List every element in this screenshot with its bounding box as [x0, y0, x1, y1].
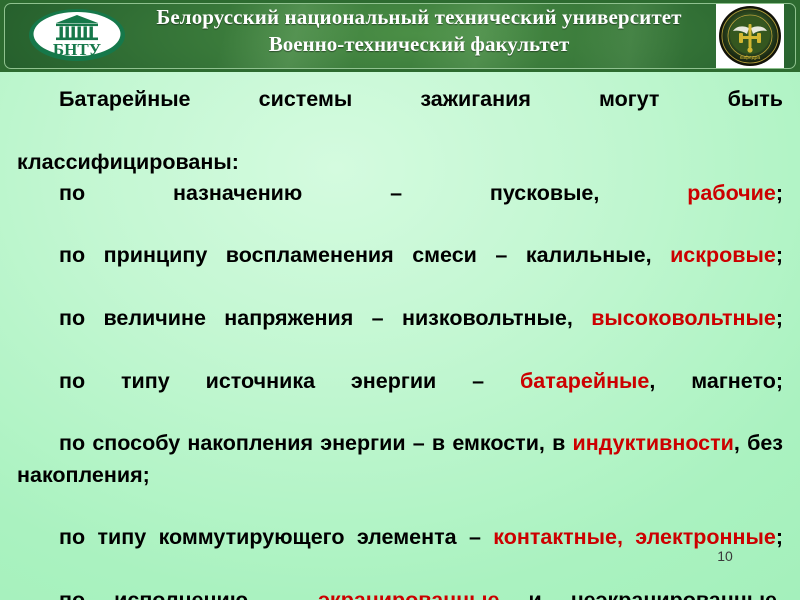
classification-item-ignition-principle-accent-1: искровые [670, 243, 776, 267]
classification-list: по назначению – пусковые, рабочие;по при… [17, 178, 783, 600]
bntu-logo: БНТУ [28, 8, 126, 62]
university-title: Белорусский национальный технический уни… [128, 4, 710, 31]
emblem-caption: кафедра [740, 55, 761, 61]
classification-item-ignition-principle-text-0: по принципу воспламенения смеси – калиль… [59, 243, 670, 267]
classification-item-ignition-principle-text-2: ; [776, 243, 783, 267]
classification-item-ignition-principle: по принципу воспламенения смеси – калиль… [17, 240, 783, 303]
classification-item-construction-accent-1: экранированные [318, 588, 499, 600]
classification-item-voltage-level-accent-1: высоковольтные [591, 306, 776, 330]
classification-item-voltage-level-text-2: ; [776, 306, 783, 330]
classification-item-switching-element-text-2: ; [776, 525, 783, 549]
classification-item-purpose-accent-1: рабочие [687, 181, 776, 205]
classification-item-switching-element-text-0: по типу коммутирующего элемента – [59, 525, 493, 549]
military-faculty-emblem: кафедра [716, 4, 784, 68]
faculty-title: Военно-технический факультет [128, 31, 710, 57]
bntu-logo-text: БНТУ [53, 40, 102, 59]
intro-line-2: классифицированы: [17, 147, 783, 178]
classification-item-energy-source-text-0: по типу источника энергии – [59, 369, 520, 393]
classification-item-purpose-text-2: ; [776, 181, 783, 205]
classification-item-energy-storage: по способу накопления энергии – в емкост… [17, 428, 783, 522]
classification-item-energy-source-accent-1: батарейные [520, 369, 649, 393]
classification-item-purpose-text-0: по назначению – пусковые, [59, 181, 687, 205]
classification-item-switching-element-accent-1: контактные, электронные [493, 525, 776, 549]
classification-item-voltage-level: по величине напряжения – низковольтные, … [17, 303, 783, 366]
classification-item-purpose: по назначению – пусковые, рабочие; [17, 178, 783, 241]
slide-number: 10 [705, 548, 745, 564]
classification-item-construction-text-0: по исполнению – [59, 588, 318, 600]
presentation-slide: БНТУ Белорусский национальный технически… [0, 0, 800, 600]
paragraph-intro: Батарейные системы зажигания могут бытьк… [17, 84, 783, 178]
classification-item-energy-source-text-2: , магнето; [649, 369, 783, 393]
classification-item-construction-text-2: и неэкранированные, [499, 588, 783, 600]
classification-item-energy-source: по типу источника энергии – батарейные, … [17, 366, 783, 429]
slide-header-banner: БНТУ Белорусский национальный технически… [0, 0, 800, 72]
classification-item-switching-element: по типу коммутирующего элемента – контак… [17, 522, 783, 585]
classification-item-construction: по исполнению – экранированные и неэкран… [17, 585, 783, 600]
classification-item-energy-storage-text-0: по способу накопления энергии – в емкост… [59, 431, 573, 455]
intro-line-1: Батарейные системы зажигания могут быть [17, 84, 783, 147]
classification-item-energy-storage-accent-1: индуктивности [573, 431, 734, 455]
classification-item-voltage-level-text-0: по величине напряжения – низковольтные, [59, 306, 591, 330]
slide-body-text: Батарейные системы зажигания могут бытьк… [17, 84, 783, 600]
header-titles: Белорусский национальный технический уни… [128, 4, 710, 57]
